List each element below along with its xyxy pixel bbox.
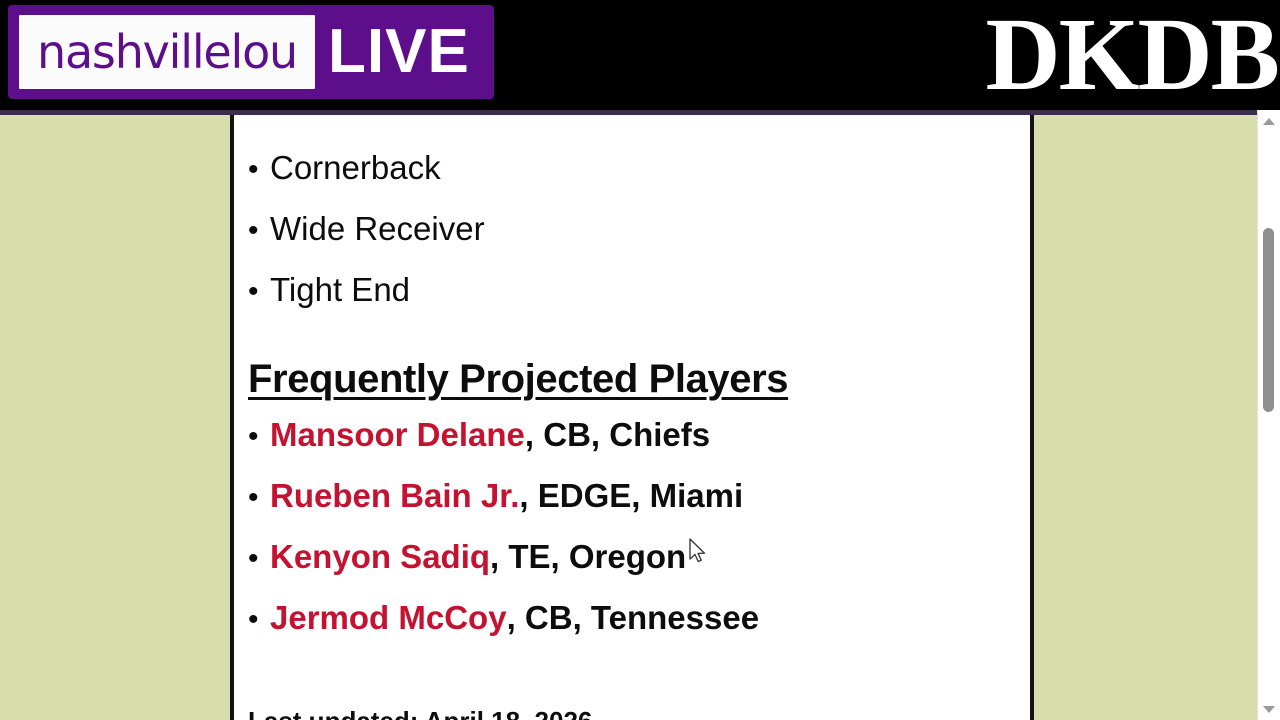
bullet-icon: • [248,483,270,513]
last-updated-note: Last updated: April 18, 2026 [248,707,592,720]
nashvillelou-live-logo: nashvillelou LIVE [8,5,494,99]
position-label: Tight End [270,273,410,306]
player-meta: , CB, Chiefs [525,418,710,451]
bullet-icon: • [248,155,270,185]
network-watermark: DKDB [986,0,1278,110]
player-name-link[interactable]: Jermod McCoy [270,601,507,634]
bullet-icon: • [248,422,270,452]
bullet-icon: • [248,605,270,635]
bullet-icon: • [248,216,270,246]
player-list-item: • Kenyon Sadiq , TE, Oregon [248,540,686,574]
position-label: Wide Receiver [270,212,485,245]
list-item: • Tight End [248,273,410,307]
scroll-up-arrow-icon[interactable] [1258,112,1280,130]
list-item: • Wide Receiver [248,212,485,246]
logo-wordmark-box: nashvillelou [19,15,315,89]
player-meta: , EDGE, Miami [519,479,743,512]
logo-live-text: LIVE [328,17,470,87]
player-meta: , TE, Oregon [490,540,686,573]
player-list-item: • Jermod McCoy , CB, Tennessee [248,601,759,635]
browser-viewport: • Cornerback • Wide Receiver • Tight End… [0,110,1280,720]
broadcast-header-bar: nashvillelou LIVE DKDB [0,0,1280,110]
bullet-icon: • [248,544,270,574]
scroll-down-arrow-icon[interactable] [1258,700,1280,718]
player-list-item: • Mansoor Delane , CB, Chiefs [248,418,710,452]
list-item: • Cornerback [248,151,441,185]
player-name-link[interactable]: Kenyon Sadiq [270,540,490,573]
position-label: Cornerback [270,151,441,184]
bullet-icon: • [248,277,270,307]
logo-wordmark-text: nashvillelou [37,29,297,75]
player-name-link[interactable]: Mansoor Delane [270,418,525,451]
player-name-link[interactable]: Rueben Bain Jr. [270,479,519,512]
vertical-scrollbar[interactable] [1257,110,1280,720]
article-content-column: • Cornerback • Wide Receiver • Tight End… [230,115,1034,720]
player-list-item: • Rueben Bain Jr. , EDGE, Miami [248,479,743,513]
player-meta: , CB, Tennessee [507,601,759,634]
scrollbar-thumb[interactable] [1263,228,1274,412]
section-heading-frequently-projected-players: Frequently Projected Players [248,357,788,402]
